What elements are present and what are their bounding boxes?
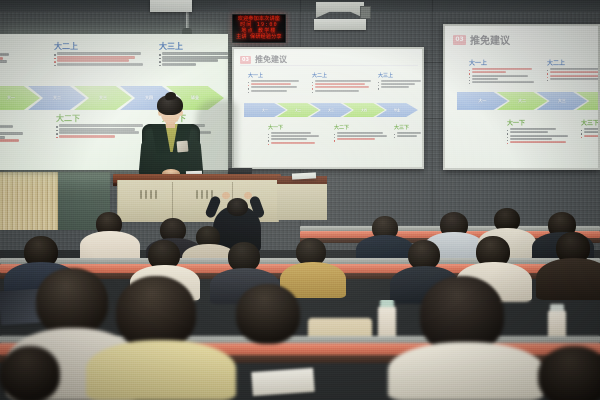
ceiling-projector: [150, 0, 192, 12]
speaker-mount-plate: [314, 19, 366, 30]
slide-text-block: 大一下: [507, 120, 571, 144]
slide-badge: 03: [240, 56, 251, 64]
block-heading: 大二上: [547, 60, 600, 68]
podium-seam: [172, 182, 173, 222]
header-rule: [240, 65, 418, 66]
slide-text-block: 大一上: [469, 60, 537, 84]
audience-head: [236, 284, 300, 344]
audience-shoulders: [80, 231, 140, 261]
slide-title: 推免建议: [255, 54, 287, 65]
side-bench-body: [277, 184, 327, 220]
slide-text-block: 大二下: [334, 125, 388, 142]
audience-head: [538, 346, 600, 400]
audience-shoulders: [536, 258, 600, 300]
audience-shoulders: [388, 342, 544, 400]
slide-text-block: 大三下: [581, 120, 600, 138]
block-heading: 大二下: [56, 114, 146, 124]
bottle-cap: [550, 304, 564, 311]
block-heading: 大一下: [268, 125, 324, 132]
timeline-arrow-row: 大一 大二 大三 大四 毕业: [0, 86, 228, 110]
slide-text-block: 大一下: [268, 125, 324, 145]
timeline-arrow-row: 大一 大二 大三 大四: [457, 92, 600, 110]
audience-shoulders: [86, 340, 236, 400]
slide-text-block: 大三上: [159, 42, 228, 66]
slide-text-block: 大三上: [378, 73, 422, 90]
slide-text-block: 大三下: [394, 125, 422, 138]
led-line-4: 主讲 保研经验分享: [236, 35, 282, 40]
photographer-hand-right: [244, 192, 252, 199]
timeline-arrow: 大一: [244, 103, 286, 117]
slide-text-block: 大二上: [54, 42, 146, 66]
slide-text-block: 大二上: [312, 73, 374, 93]
slide-text-block: 大一上: [248, 73, 308, 93]
block-heading: 大一上: [469, 60, 537, 68]
bottle-cap: [380, 300, 394, 307]
photographer-hand-left: [222, 192, 230, 199]
block-heading: 大一上: [0, 44, 24, 53]
photographer-head: [227, 198, 248, 216]
slide-header: 03 推免建议: [453, 32, 510, 47]
block-heading: 大三下: [394, 125, 422, 132]
wall-socket: [360, 6, 371, 19]
audience-head: [116, 276, 196, 350]
block-heading: 大一下: [0, 116, 24, 125]
center-projection-screen: 03 推免建议 大一上 大二上 大三上 大一 大二: [232, 47, 424, 169]
block-heading: 大三上: [378, 73, 422, 80]
slide-title: 推免建议: [470, 32, 510, 47]
bench-papers: [292, 172, 316, 179]
slide-header: 03 推免建议: [240, 54, 287, 65]
block-heading: 大三上: [159, 42, 228, 52]
audience-head: [36, 268, 108, 336]
timeline-arrow: 大一: [457, 92, 508, 110]
audience-head: [0, 346, 60, 400]
slide-text-block: 大二下: [56, 114, 146, 138]
slide-text-block: 大二上: [547, 60, 600, 81]
block-heading: 大二上: [312, 73, 374, 80]
slide-badge: 03: [453, 35, 466, 45]
block-heading: 大二上: [54, 42, 146, 52]
block-heading: 大三下: [581, 120, 600, 128]
presenter-jacket-logo: [177, 141, 189, 153]
timeline-arrow-row: 大一 大二 大三 大四 毕业: [244, 103, 420, 117]
lecture-hall-photo: 欢迎参加本次讲座 时间 19:00 地点 教学楼 主讲 保研经验分享 大一上 大…: [0, 0, 600, 400]
block-heading: 大一下: [507, 120, 571, 128]
water-bottle: [378, 306, 396, 340]
right-projection-screen: 03 推免建议 大一上 大二上 大一 大二 大三 大四 大一: [443, 24, 600, 170]
slide-text-block: 大一上: [0, 44, 24, 64]
led-display: 欢迎参加本次讲座 时间 19:00 地点 教学楼 主讲 保研经验分享: [232, 14, 286, 43]
open-notebook: [251, 368, 315, 396]
wood-slat-panel: [0, 172, 58, 230]
slide-text-block: 大一下: [0, 116, 24, 143]
wall-seam-vertical: [432, 0, 433, 250]
block-heading: 大一上: [248, 73, 308, 80]
block-heading: 大二下: [334, 125, 388, 132]
